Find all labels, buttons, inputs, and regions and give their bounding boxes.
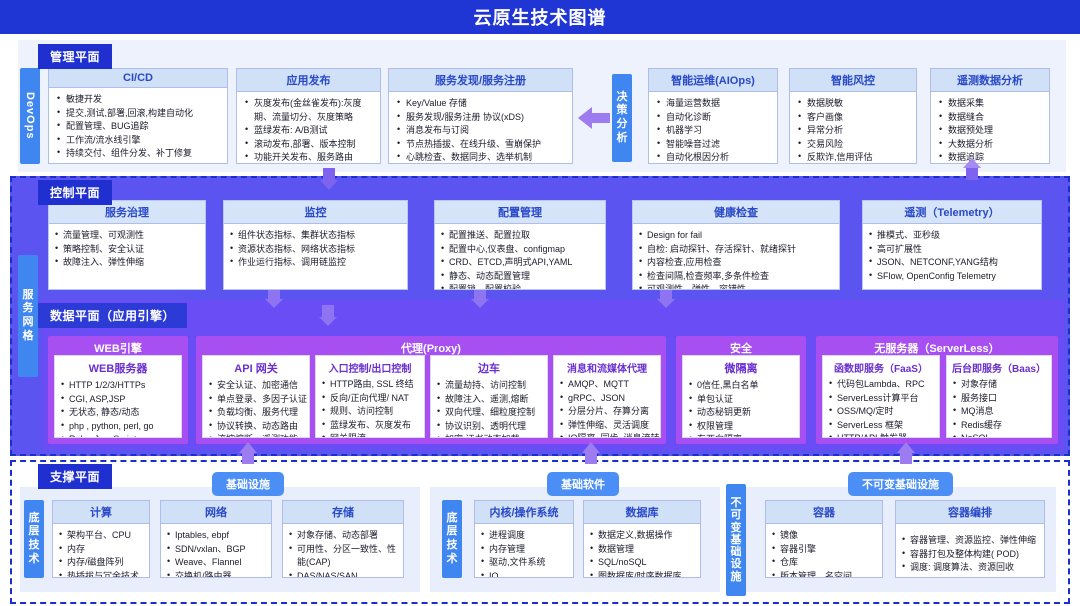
card-monitoring: 监控 组件状态指标、集群状态指标 资源状态指标、网络状态指标 作业运行指标、调用… [223, 200, 408, 290]
card-message-stream-proxy: 消息和流媒体代理 AMQP、MQTT gRPC、JSON 分层分片、存算分离 弹… [553, 355, 661, 438]
arrow-telemetry-up-stem [966, 168, 978, 180]
devops-rail: DevOps [20, 68, 40, 164]
list-item: Design for fail [639, 229, 833, 243]
card-baas: 后台即服务（Baas） 对象存储 服务接口 MQ消息 Redis缓存 NoSQL [946, 355, 1052, 438]
ii-7: 施 [731, 571, 742, 583]
service-mesh-rail: 服 务 网 格 [18, 255, 38, 377]
list-item: 容器管理、资源监控、弹性伸缩 [902, 534, 1038, 548]
list-item: 静态、动态配置管理 [441, 270, 599, 284]
list-item: 安全认证、加密通信 [209, 379, 303, 393]
bt-b-1: 底 [447, 512, 458, 526]
card-body: 对象存储、动态部署 可用性、分区一致性、性能(CAP) DAS/NAS/SAN [283, 524, 403, 578]
bt-a-3: 技 [29, 539, 40, 553]
list-item: 自检: 启动探针、存活探针、就绪探针 [639, 243, 833, 257]
list-item: 配置推送、配置拉取 [441, 229, 599, 243]
list-item: php , python, perl, go [61, 420, 175, 434]
list-item: 无状态, 静态/动态 [61, 406, 175, 420]
list-item: 数据脱敏 [796, 97, 910, 111]
support-plane-tag: 支撑平面 [38, 464, 112, 489]
immutable-infra-rail: 不 可 变 基 础 设 施 [726, 484, 746, 596]
card-body: 敏捷开发 提交,测试,部署,回滚,构建自动化 配置管理、BUG追踪 工作流/流水… [49, 88, 227, 164]
list-item: 提交,测试,部署,回滚,构建自动化 [55, 107, 221, 121]
card-title: 存储 [283, 501, 403, 524]
list-item: 灰度发布(金丝雀发布):灰度期、流量切分、灰度策略 [243, 97, 374, 124]
list-item: SDN/vxlan、BGP [167, 543, 265, 557]
mesh-label-1: 服 [23, 289, 34, 303]
card-title: 应用发布 [237, 69, 380, 92]
ii-3: 变 [731, 522, 742, 534]
list-item: 东西向隔离 [689, 433, 793, 438]
list-item: 数据追踪 [937, 151, 1043, 164]
list-item: 蓝绿发布、灰度发布 [322, 419, 418, 433]
list-item: 机器学习 [655, 124, 771, 138]
list-item: 配置管理、BUG追踪 [55, 120, 221, 134]
bottom-tech-rail-a: 底 层 技 术 [24, 500, 44, 578]
card-title: 健康检查 [633, 201, 839, 224]
card-container-orchestration: 容器编排 容器管理、资源监控、弹性伸缩 容器打包及整体构建( POD) 调度: … [895, 500, 1045, 578]
list-item: 数据定义,数据操作 [590, 529, 694, 543]
list-item: ServerLess 框架 [829, 419, 933, 433]
list-item: CRD、ETCD,声明式API,YAML [441, 256, 599, 270]
card-risk-control: 智能风控 数据脱敏 客户画像 异常分析 交易风险 反欺诈,信用评估 [789, 68, 917, 164]
list-item: 进程调度 [481, 529, 567, 543]
list-item: 数据缝合 [937, 111, 1043, 125]
card-body: 镜像 容器引擎 仓库 版本管理、名空间 [766, 524, 882, 578]
list-item: 内存管理 [481, 543, 567, 557]
card-title: 内核/操作系统 [475, 501, 573, 524]
arrow-immutable-up-head [897, 442, 915, 453]
list-item: 驱动,文件系统 [481, 556, 567, 570]
arrow-telemetry-up-head [963, 158, 981, 168]
list-item: 分层分片、存算分离 [560, 405, 654, 419]
card-body: 架构平台、CPU 内存 内存/磁盘阵列 热插拔与冗余技术 [53, 524, 149, 578]
card-config-management: 配置管理 配置推送、配置拉取 配置中心,仪表盘、configmap CRD、ET… [434, 200, 606, 290]
mesh-label-2: 务 [23, 302, 34, 316]
list-item: 可观测性、弹性、容错性 [639, 283, 833, 290]
card-body: 数据定义,数据操作 数据管理 SQL/noSQL 图数据库/时序数据库 [584, 524, 700, 578]
card-body: 进程调度 内存管理 驱动,文件系统 IO [475, 524, 573, 578]
list-item: Redis缓存 [953, 419, 1045, 433]
card-storage: 存储 对象存储、动态部署 可用性、分区一致性、性能(CAP) DAS/NAS/S… [282, 500, 404, 578]
card-body: 代码包Lambda、RPC ServerLess计算平台 OSS/MQ/定时 S… [823, 377, 939, 438]
list-item: 高可扩展性 [869, 243, 1035, 257]
arrow-ctrl-to-data-stem-2 [474, 290, 486, 299]
list-item: 数据采集 [937, 97, 1043, 111]
card-title: 配置管理 [435, 201, 605, 224]
list-item: 海量运营数据 [655, 97, 771, 111]
card-title: 容器 [766, 501, 882, 524]
card-title: 智能运维(AIOps) [649, 69, 777, 92]
list-item: 加密,证书动态加载 [437, 433, 541, 438]
list-item: 心跳检查、数据同步、选举机制 [395, 151, 566, 164]
list-item: 负载均衡、服务代理 [209, 406, 303, 420]
card-sidecar: 边车 流量劫持、访问控制 故障注入、遥测,熔断 双向代理、细粒度控制 协议识别、… [430, 355, 548, 438]
list-item: ServerLess计算平台 [829, 392, 933, 406]
bt-b-4: 术 [447, 553, 458, 567]
card-body: 安全认证、加密通信 单点登录、多因子认证 负载均衡、服务代理 协议转换、动态路由… [203, 378, 309, 438]
list-item: 单包认证 [689, 393, 793, 407]
list-item: 内存 [59, 543, 143, 557]
page-title-text: 云原生技术图谱 [474, 4, 607, 30]
card-body: 0信任,黑白名单 单包认证 动态秘钥更新 权限管理 东西向隔离 [683, 378, 799, 438]
list-item: 故障注入、弹性伸缩 [55, 256, 199, 270]
card-service-discovery: 服务发现/服务注册 Key/Value 存储 服务发现/服务注册 协议(xDS)… [388, 68, 573, 164]
ii-6: 设 [731, 558, 742, 570]
list-item: HTTP/API 触发器 [829, 432, 933, 438]
card-app-release: 应用发布 灰度发布(金丝雀发布):灰度期、流量切分、灰度策略 蓝绿发布: A/B… [236, 68, 381, 164]
decision-arrow-head [578, 107, 592, 129]
ii-4: 基 [731, 534, 742, 546]
list-item: 规则、访问控制 [322, 405, 418, 419]
list-item: 检查间隔,检查频率,多条件检查 [639, 270, 833, 284]
list-item: NoSQL [953, 432, 1045, 438]
list-item: 消息发布与订阅 [395, 124, 566, 138]
card-api-gateway: API 网关 安全认证、加密通信 单点登录、多因子认证 负载均衡、服务代理 协议… [202, 355, 310, 438]
card-title: 消息和流媒体代理 [554, 356, 660, 377]
bt-b-2: 层 [447, 525, 458, 539]
list-item: 敏捷开发 [55, 93, 221, 107]
arrow-manage-to-control-stem [323, 168, 335, 180]
card-database: 数据库 数据定义,数据操作 数据管理 SQL/noSQL 图数据库/时序数据库 [583, 500, 701, 578]
card-title: 智能风控 [790, 69, 916, 92]
ii-2: 可 [731, 509, 742, 521]
list-item: 协议识别、透明代理 [437, 420, 541, 434]
card-body: 灰度发布(金丝雀发布):灰度期、流量切分、灰度策略 蓝绿发布: A/B测试 滚动… [237, 92, 380, 164]
list-item: 流量管理、可观测性 [55, 229, 199, 243]
list-item: 代码包Lambda、RPC [829, 378, 933, 392]
card-body: Design for fail 自检: 启动探针、存活探针、就绪探针 内容检查,… [633, 224, 839, 290]
card-title: 服务发现/服务注册 [389, 69, 572, 92]
page-title: 云原生技术图谱 [0, 0, 1080, 34]
list-item: gRPC、JSON [560, 392, 654, 406]
list-item: 单点登录、多因子认证 [209, 393, 303, 407]
card-compute: 计算 架构平台、CPU 内存 内存/磁盘阵列 热插拔与冗余技术 [52, 500, 150, 578]
list-item: 自动化诊断 [655, 111, 771, 125]
list-item: 仓库 [772, 556, 876, 570]
arrow-ctrl-to-data-stem-3 [660, 290, 672, 299]
arrow-ctrl-to-data-head-3 [657, 299, 675, 308]
list-item: SQL/noSQL [590, 556, 694, 570]
arrow-ctrl-to-data-head-1 [265, 299, 283, 308]
card-body: 数据采集 数据缝合 数据预处理 大数据分析 数据追踪 [931, 92, 1049, 164]
card-micro-segmentation: 微隔离 0信任,黑白名单 单包认证 动态秘钥更新 权限管理 东西向隔离 [682, 355, 800, 438]
list-item: 对象存储 [953, 378, 1045, 392]
card-body: 配置推送、配置拉取 配置中心,仪表盘、configmap CRD、ETCD,声明… [435, 224, 605, 290]
list-item: IO隔离, 同步, 消息流转 [560, 432, 654, 438]
list-item: 工作流/流水线引擎 [55, 134, 221, 148]
pill-immutable-infra: 不可变基础设施 [848, 472, 953, 496]
card-title: 计算 [53, 501, 149, 524]
card-container: 容器 镜像 容器引擎 仓库 版本管理、名空间 [765, 500, 883, 578]
list-item: 服务接口 [953, 392, 1045, 406]
list-item: 协议转换、动态路由 [209, 420, 303, 434]
card-service-governance: 服务治理 流量管理、可观测性 策略控制、安全认证 故障注入、弹性伸缩 [48, 200, 206, 290]
list-item: 推模式、亚秒级 [869, 229, 1035, 243]
data-plane-tag: 数据平面（应用引擎） [38, 303, 187, 328]
arrow-infra-up-stem [242, 452, 254, 464]
card-body: 推模式、亚秒级 高可扩展性 JSON、NETCONF,YANG结构 SFlow,… [863, 224, 1041, 289]
bt-a-2: 层 [29, 525, 40, 539]
arrow-ctrl-to-data-head-2 [471, 299, 489, 308]
list-item: 流量劫持、访问控制 [437, 379, 541, 393]
card-body: 容器管理、资源监控、弹性伸缩 容器打包及整体构建( POD) 调度: 调度算法、… [896, 524, 1044, 578]
list-item: 调度: 调度算法、资源回收 [902, 561, 1038, 575]
list-item: 数据预处理 [937, 124, 1043, 138]
list-item: 自动化根因分析 [655, 151, 771, 164]
list-item: CGI, ASP,JSP [61, 393, 175, 407]
list-item: 双向代理、细粒度控制 [437, 406, 541, 420]
list-item: Weave、Flannel [167, 556, 265, 570]
list-item: 反向/正向代理/ NAT [322, 392, 418, 406]
management-plane-tag: 管理平面 [38, 44, 112, 69]
list-item: 资源状态指标、网络状态指标 [230, 243, 401, 257]
pill-infrastructure: 基础设施 [212, 472, 284, 496]
arrow-ctrl-to-data-stem-4 [322, 305, 334, 317]
bottom-tech-rail-b: 底 层 技 术 [442, 500, 462, 578]
pill-basic-software: 基础软件 [547, 472, 619, 496]
card-title: 微隔离 [683, 356, 799, 378]
list-item: Ruby, JavaScript [61, 433, 175, 438]
card-title: 监控 [224, 201, 407, 224]
decision-label-3: 分 [617, 118, 628, 132]
card-title: API 网关 [203, 356, 309, 378]
list-item: 持续交付、组件分发、补丁修复 [55, 147, 221, 161]
card-title: WEB服务器 [55, 356, 181, 378]
control-plane-tag: 控制平面 [38, 180, 112, 205]
card-body: 流量管理、可观测性 策略控制、安全认证 故障注入、弹性伸缩 [49, 224, 205, 289]
list-item: 弹性伸缩、灵活调度 [560, 419, 654, 433]
card-body: 海量运营数据 自动化诊断 机器学习 智能噪音过滤 自动化根因分析 [649, 92, 777, 164]
card-title: 边车 [431, 356, 547, 378]
decision-analysis-rail: 决 策 分 析 [612, 74, 632, 162]
list-item: 配置中心,仪表盘、configmap [441, 243, 599, 257]
arrow-software-up-stem [585, 452, 597, 464]
list-item: MQ消息 [953, 405, 1045, 419]
card-body: HTTP 1/2/3/HTTPs CGI, ASP,JSP 无状态, 静态/动态… [55, 378, 181, 438]
list-item: 异常分析 [796, 124, 910, 138]
card-cicd: CI/CD 敏捷开发 提交,测试,部署,回滚,构建自动化 配置管理、BUG追踪 … [48, 68, 228, 164]
list-item: HTTP 1/2/3/HTTPs [61, 379, 175, 393]
list-item: 数据管理 [590, 543, 694, 557]
list-item: 功能开关发布、服务路由 [243, 151, 374, 164]
list-item: AMQP、MQTT [560, 378, 654, 392]
mesh-label-4: 格 [23, 330, 34, 344]
card-title: 数据库 [584, 501, 700, 524]
card-body: Key/Value 存储 服务发现/服务注册 协议(xDS) 消息发布与订阅 节… [389, 92, 572, 164]
list-item: 客户画像 [796, 111, 910, 125]
list-item: 滚动发布,部署、版本控制 [243, 138, 374, 152]
bt-b-3: 技 [447, 539, 458, 553]
list-item: 交易风险 [796, 138, 910, 152]
list-item: 策略控制、安全认证 [55, 243, 199, 257]
card-title: 网络 [161, 501, 271, 524]
mesh-label-3: 网 [23, 316, 34, 330]
decision-label-2: 策 [617, 104, 628, 118]
card-title: 遥测数据分析 [931, 69, 1049, 92]
card-title: 后台即服务（Baas） [947, 356, 1051, 377]
list-item: IO [481, 570, 567, 579]
list-item: 图数据库/时序数据库 [590, 570, 694, 579]
card-network: 网络 Iptables, ebpf SDN/vxlan、BGP Weave、Fl… [160, 500, 272, 578]
list-item: Key/Value 存储 [395, 97, 566, 111]
card-body: Iptables, ebpf SDN/vxlan、BGP Weave、Flann… [161, 524, 271, 578]
list-item: 智能噪音过滤 [655, 138, 771, 152]
list-item: 热插拔与冗余技术 [59, 570, 143, 579]
list-item: 动态秘钥更新 [689, 406, 793, 420]
list-item: Iptables, ebpf [167, 529, 265, 543]
card-aiops: 智能运维(AIOps) 海量运营数据 自动化诊断 机器学习 智能噪音过滤 自动化… [648, 68, 778, 164]
card-telemetry-analysis: 遥测数据分析 数据采集 数据缝合 数据预处理 大数据分析 数据追踪 [930, 68, 1050, 164]
arrow-manage-to-control-head [320, 180, 338, 190]
ii-1: 不 [731, 497, 742, 509]
list-item: SFlow, OpenConfig Telemetry [869, 270, 1035, 284]
ii-5: 础 [731, 546, 742, 558]
list-item: 对象存储、动态部署 [289, 529, 397, 543]
list-item: OSS/MQ/定时 [829, 405, 933, 419]
decision-label-4: 析 [617, 132, 628, 146]
card-body: 组件状态指标、集群状态指标 资源状态指标、网络状态指标 作业运行指标、调用链监控 [224, 224, 407, 289]
arrow-ctrl-to-data-head-4 [319, 317, 337, 326]
list-item: 权限管理 [689, 420, 793, 434]
decision-label-1: 决 [617, 91, 628, 105]
list-item: 网关限流 [322, 432, 418, 438]
decision-arrow-stem [592, 113, 610, 123]
card-title: 入口控制/出口控制 [316, 356, 424, 377]
arrow-immutable-up-stem [900, 452, 912, 464]
card-health-check: 健康检查 Design for fail 自检: 启动探针、存活探针、就绪探针 … [632, 200, 840, 290]
list-item: 镜像 [772, 529, 876, 543]
list-item: 0信任,黑白名单 [689, 379, 793, 393]
list-item: HTTP路由, SSL 终结 [322, 378, 418, 392]
card-body: AMQP、MQTT gRPC、JSON 分层分片、存算分离 弹性伸缩、灵活调度 … [554, 377, 660, 438]
card-faas: 函数即服务（FaaS） 代码包Lambda、RPC ServerLess计算平台… [822, 355, 940, 438]
arrow-software-up-head [582, 442, 600, 453]
bt-a-1: 底 [29, 512, 40, 526]
list-item: 流控熔断、遥测功能 [209, 433, 303, 438]
list-item: 版本管理、名空间 [772, 570, 876, 579]
list-item: 配置锁、配置校验 [441, 283, 599, 290]
list-item: 节点热插拔、在线升级、雪崩保护 [395, 138, 566, 152]
card-title: CI/CD [49, 69, 227, 88]
card-ingress-egress: 入口控制/出口控制 HTTP路由, SSL 终结 反向/正向代理/ NAT 规则… [315, 355, 425, 438]
list-item: 架构平台、CPU [59, 529, 143, 543]
list-item: 组件状态指标、集群状态指标 [230, 229, 401, 243]
list-item: 蓝绿发布: A/B测试 [243, 124, 374, 138]
arrow-infra-up-head [239, 442, 257, 453]
card-title: 遥测（Telemetry） [863, 201, 1041, 224]
list-item: 作业运行指标、调用链监控 [230, 256, 401, 270]
card-web-server: WEB服务器 HTTP 1/2/3/HTTPs CGI, ASP,JSP 无状态… [54, 355, 182, 438]
list-item: 可用性、分区一致性、性能(CAP) [289, 543, 397, 570]
list-item: 大数据分析 [937, 138, 1043, 152]
card-body: HTTP路由, SSL 终结 反向/正向代理/ NAT 规则、访问控制 蓝绿发布… [316, 377, 424, 438]
card-title: 函数即服务（FaaS） [823, 356, 939, 377]
card-body: 对象存储 服务接口 MQ消息 Redis缓存 NoSQL [947, 377, 1051, 438]
list-item: 内容检查,应用检查 [639, 256, 833, 270]
list-item: 反欺诈,信用评估 [796, 151, 910, 164]
card-telemetry: 遥测（Telemetry） 推模式、亚秒级 高可扩展性 JSON、NETCONF… [862, 200, 1042, 290]
card-body: 数据脱敏 客户画像 异常分析 交易风险 反欺诈,信用评估 [790, 92, 916, 164]
list-item: 内存/磁盘阵列 [59, 556, 143, 570]
card-body: 流量劫持、访问控制 故障注入、遥测,熔断 双向代理、细粒度控制 协议识别、透明代… [431, 378, 547, 438]
list-item: 容器引擎 [772, 543, 876, 557]
list-item: DAS/NAS/SAN [289, 570, 397, 579]
list-item: 容器打包及整体构建( POD) [902, 548, 1038, 562]
card-title: 容器编排 [896, 501, 1044, 524]
list-item: 交换机/路由器 [167, 570, 265, 579]
card-kernel-os: 内核/操作系统 进程调度 内存管理 驱动,文件系统 IO [474, 500, 574, 578]
list-item: 服务发现/服务注册 协议(xDS) [395, 111, 566, 125]
bt-a-4: 术 [29, 553, 40, 567]
list-item: 故障注入、遥测,熔断 [437, 393, 541, 407]
arrow-ctrl-to-data-stem-1 [268, 290, 280, 299]
list-item: JSON、NETCONF,YANG结构 [869, 256, 1035, 270]
